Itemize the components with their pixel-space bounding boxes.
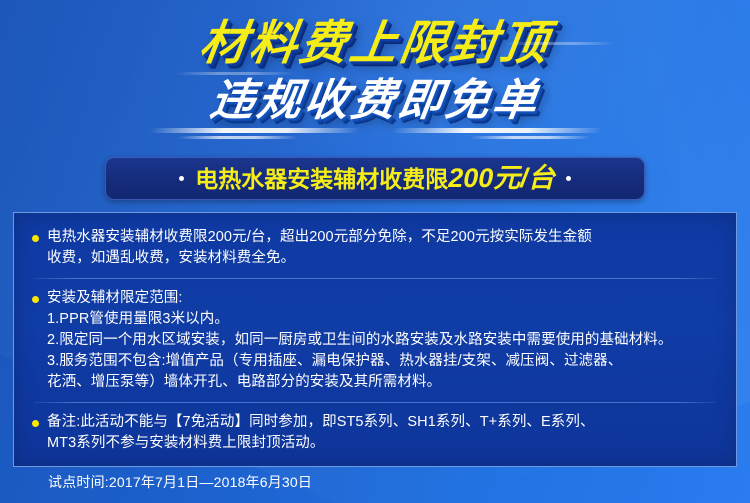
terms-line: 收费，如遇乱收费，安装材料费全免。 bbox=[47, 248, 718, 269]
terms-line: 备注:此活动不能与【7免活动】同时参加，即ST5系列、SH1系列、T+系列、E系… bbox=[47, 412, 718, 433]
terms-section-3: 备注:此活动不能与【7免活动】同时参加，即ST5系列、SH1系列、T+系列、E系… bbox=[32, 412, 718, 454]
decorative-streak-icon bbox=[149, 128, 361, 133]
subtitle-amount: 200元/台 bbox=[448, 163, 555, 193]
terms-section-2-body: 安装及辅材限定范围: 1.PPR管使用量限3米以内。 2.限定同一个用水区域安装… bbox=[47, 288, 718, 393]
terms-line: 花洒、增压泵等）墙体开孔、电路部分的安装及其所需材料。 bbox=[47, 372, 718, 393]
decorative-streak-icon bbox=[391, 128, 603, 133]
trial-period-footer: 试点时间:2017年7月1日—2018年6月30日 bbox=[48, 473, 312, 491]
terms-section-2: 安装及辅材限定范围: 1.PPR管使用量限3米以内。 2.限定同一个用水区域安装… bbox=[32, 288, 718, 393]
terms-section-1-body: 电热水器安装辅材收费限200元/台，超出200元部分免除，不足200元按实际发生… bbox=[47, 227, 718, 269]
terms-line: 3.服务范围不包含:增值产品（专用插座、漏电保护器、热水器挂/支架、减压阀、过滤… bbox=[47, 351, 718, 372]
bullet-dot-icon bbox=[32, 235, 39, 242]
subtitle-prefix: 电热水器安装辅材收费限 bbox=[195, 166, 448, 192]
headline-group: 材料费上限封顶 违规收费即免单 bbox=[0, 18, 750, 126]
terms-panel: 电热水器安装辅材收费限200元/台，超出200元部分免除，不足200元按实际发生… bbox=[13, 212, 737, 467]
decorative-streak-icon bbox=[177, 136, 298, 139]
terms-line: 1.PPR管使用量限3米以内。 bbox=[47, 309, 718, 330]
decorative-streak-icon bbox=[469, 136, 590, 139]
bullet-dot-icon bbox=[32, 296, 39, 303]
terms-line: 2.限定同一个用水区域安装，如同一厨房或卫生间的水路安装及水路安装中需要使用的基… bbox=[47, 330, 718, 351]
terms-section-3-body: 备注:此活动不能与【7免活动】同时参加，即ST5系列、SH1系列、T+系列、E系… bbox=[47, 412, 718, 454]
dot-left-icon bbox=[179, 176, 184, 181]
bullet-dot-icon bbox=[32, 420, 39, 427]
decorative-streak-icon bbox=[504, 42, 615, 45]
dot-right-icon bbox=[566, 176, 571, 181]
terms-section-1: 电热水器安装辅材收费限200元/台，超出200元部分免除，不足200元按实际发生… bbox=[32, 227, 718, 269]
headline-line-1: 材料费上限封顶 bbox=[0, 18, 750, 70]
headline-line-2: 违规收费即免单 bbox=[0, 76, 750, 126]
section-divider-2 bbox=[34, 402, 716, 403]
promo-banner: 材料费上限封顶 违规收费即免单 电热水器安装辅材收费限200元/台 电热水器安装… bbox=[0, 0, 750, 503]
section-divider-1 bbox=[34, 278, 716, 279]
terms-line: MT3系列不参与安装材料费上限封顶活动。 bbox=[47, 433, 718, 454]
decorative-streak-icon bbox=[174, 72, 295, 75]
terms-line: 电热水器安装辅材收费限200元/台，超出200元部分免除，不足200元按实际发生… bbox=[47, 227, 718, 248]
subtitle-text: 电热水器安装辅材收费限200元/台 bbox=[195, 165, 555, 192]
subtitle-bar: 电热水器安装辅材收费限200元/台 bbox=[105, 157, 645, 200]
terms-line: 安装及辅材限定范围: bbox=[47, 288, 718, 309]
